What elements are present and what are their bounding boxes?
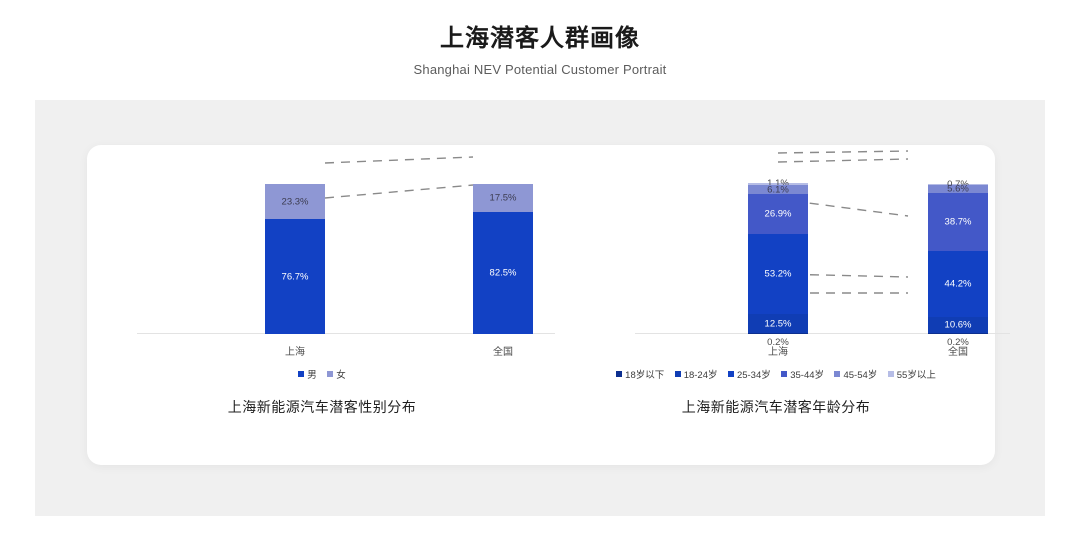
age-legend-label-under18: 18岁以下 bbox=[625, 370, 664, 381]
age-legend-label-25-34: 25-34岁 bbox=[737, 370, 771, 381]
age-label-25-34-national: 44.2% bbox=[928, 279, 988, 290]
gender-seg-female-shanghai[interactable]: 23.3% bbox=[265, 184, 325, 219]
age-bar-shanghai[interactable]: 1.1% 6.1% 26.9% 53.2% 12.5% bbox=[748, 183, 808, 334]
age-seg-under18-shanghai[interactable]: 0.2% bbox=[748, 333, 808, 334]
age-legend: 18岁以下 18-24岁 25-34岁 35-44岁 45-54岁 bbox=[557, 367, 995, 385]
age-seg-35-44-shanghai[interactable]: 26.9% bbox=[748, 194, 808, 234]
content-panel: 23.3% 76.7% 17.5% 82.5% bbox=[35, 100, 1045, 516]
age-bar-national[interactable]: 0.7% 5.6% 38.7% 44.2% 10.6% bbox=[928, 184, 988, 334]
age-legend-swatch-25-34 bbox=[728, 371, 734, 377]
chart-age-distribution: 1.1% 6.1% 26.9% 53.2% 12.5% bbox=[557, 145, 995, 465]
gender-legend-swatch-male bbox=[298, 371, 304, 377]
age-legend-item-25-34[interactable]: 25-34岁 bbox=[728, 370, 771, 382]
age-seg-35-44-national[interactable]: 38.7% bbox=[928, 193, 988, 251]
gender-chart-caption: 上海新能源汽车潜客性别分布 bbox=[87, 397, 557, 417]
age-legend-label-45-54: 45-54岁 bbox=[843, 370, 877, 381]
gender-plot-area: 23.3% 76.7% 17.5% 82.5% bbox=[87, 145, 557, 340]
age-seg-25-34-national[interactable]: 44.2% bbox=[928, 251, 988, 317]
age-legend-item-18-24[interactable]: 18-24岁 bbox=[675, 370, 718, 382]
gender-bar-national[interactable]: 17.5% 82.5% bbox=[473, 184, 533, 334]
age-legend-item-55plus[interactable]: 55岁以上 bbox=[888, 370, 936, 382]
age-label-35-44-national: 38.7% bbox=[928, 217, 988, 228]
gender-legend-label-male: 男 bbox=[307, 370, 317, 381]
gender-label-male-shanghai: 76.7% bbox=[265, 271, 325, 282]
gender-seg-male-shanghai[interactable]: 76.7% bbox=[265, 219, 325, 334]
age-label-25-34-shanghai: 53.2% bbox=[748, 269, 808, 280]
gender-label-female-national: 17.5% bbox=[473, 193, 533, 204]
age-seg-45-54-shanghai[interactable]: 6.1% bbox=[748, 185, 808, 194]
age-cat-label-shanghai: 上海 bbox=[733, 343, 823, 358]
age-legend-item-35-44[interactable]: 35-44岁 bbox=[781, 370, 824, 382]
age-legend-item-45-54[interactable]: 45-54岁 bbox=[834, 370, 877, 382]
age-legend-swatch-45-54 bbox=[834, 371, 840, 377]
age-legend-swatch-under18 bbox=[616, 371, 622, 377]
gender-label-female-shanghai: 23.3% bbox=[265, 196, 325, 207]
age-seg-under18-national[interactable]: 0.2% bbox=[928, 333, 988, 334]
gender-bar-shanghai[interactable]: 23.3% 76.7% bbox=[265, 184, 325, 334]
age-seg-18-24-shanghai[interactable]: 12.5% bbox=[748, 314, 808, 333]
age-plot-area: 1.1% 6.1% 26.9% 53.2% 12.5% bbox=[557, 145, 995, 340]
age-legend-label-18-24: 18-24岁 bbox=[684, 370, 718, 381]
age-legend-swatch-18-24 bbox=[675, 371, 681, 377]
age-seg-18-24-national[interactable]: 10.6% bbox=[928, 317, 988, 333]
age-seg-25-34-shanghai[interactable]: 53.2% bbox=[748, 234, 808, 314]
age-legend-swatch-35-44 bbox=[781, 371, 787, 377]
gender-legend: 男 女 bbox=[87, 367, 557, 385]
gender-legend-label-female: 女 bbox=[336, 370, 346, 381]
gender-legend-swatch-female bbox=[327, 371, 333, 377]
gender-seg-female-national[interactable]: 17.5% bbox=[473, 184, 533, 212]
page-subtitle: Shanghai NEV Potential Customer Portrait bbox=[0, 60, 1080, 80]
page-header: 上海潜客人群画像 Shanghai NEV Potential Customer… bbox=[0, 0, 1080, 80]
age-chart-caption: 上海新能源汽车潜客年龄分布 bbox=[557, 397, 995, 417]
gender-legend-item-male[interactable]: 男 bbox=[298, 370, 317, 382]
gender-cat-label-national: 全国 bbox=[458, 343, 548, 358]
gender-seg-male-national[interactable]: 82.5% bbox=[473, 212, 533, 334]
age-legend-label-35-44: 35-44岁 bbox=[790, 370, 824, 381]
age-legend-swatch-55plus bbox=[888, 371, 894, 377]
age-label-18-24-national: 10.6% bbox=[928, 320, 988, 331]
age-label-35-44-shanghai: 26.9% bbox=[748, 209, 808, 220]
page-title: 上海潜客人群画像 bbox=[0, 24, 1080, 54]
gender-cat-label-shanghai: 上海 bbox=[250, 343, 340, 358]
age-legend-item-under18[interactable]: 18岁以下 bbox=[616, 370, 664, 382]
age-cat-label-national: 全国 bbox=[913, 343, 1003, 358]
age-seg-45-54-national[interactable]: 5.6% bbox=[928, 185, 988, 193]
age-legend-label-55plus: 55岁以上 bbox=[897, 370, 936, 381]
charts-card: 23.3% 76.7% 17.5% 82.5% bbox=[87, 145, 995, 465]
age-label-18-24-shanghai: 12.5% bbox=[748, 318, 808, 329]
charts-row: 23.3% 76.7% 17.5% 82.5% bbox=[87, 145, 995, 465]
chart-gender-distribution: 23.3% 76.7% 17.5% 82.5% bbox=[87, 145, 557, 465]
gender-legend-item-female[interactable]: 女 bbox=[327, 370, 346, 382]
gender-label-male-national: 82.5% bbox=[473, 268, 533, 279]
